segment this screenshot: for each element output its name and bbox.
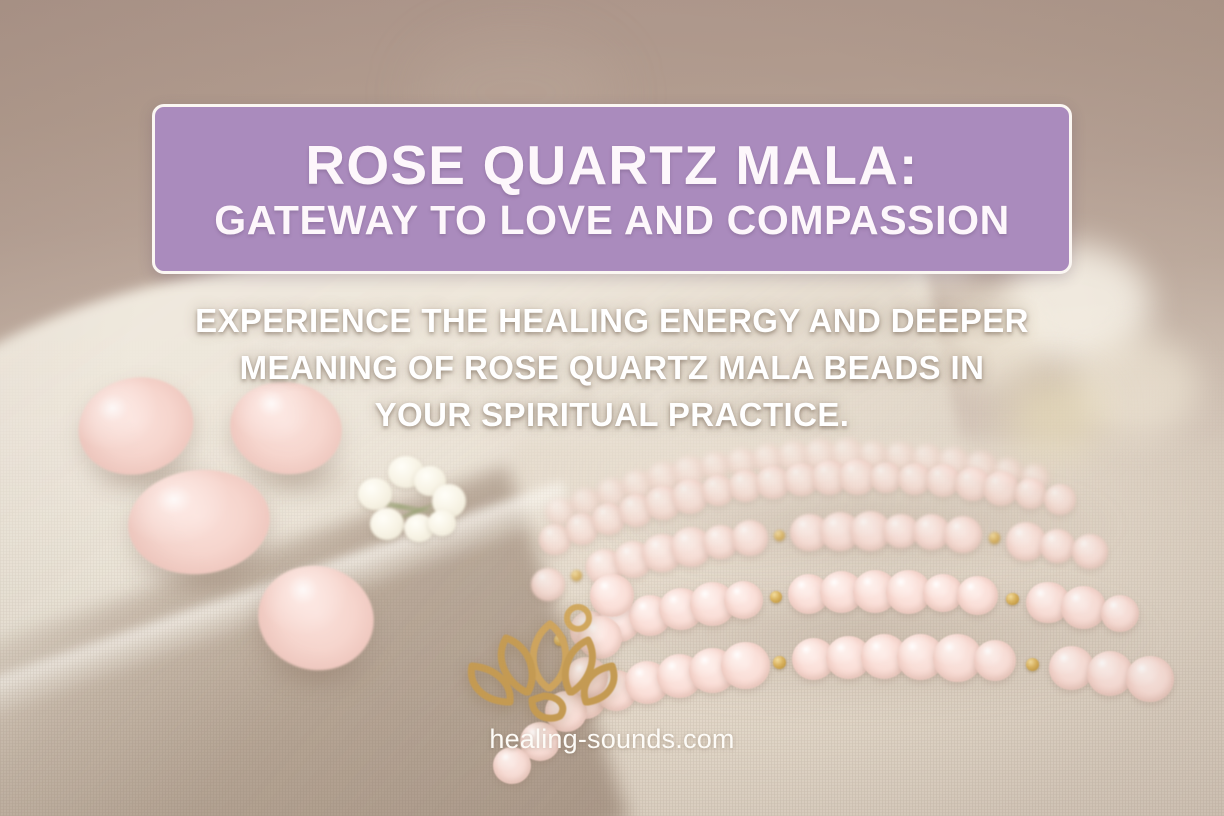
rose-quartz-bead [974,640,1016,681]
flower-petal [358,478,392,510]
rose-quartz-bead [721,642,769,689]
banner-image: ROSE QUARTZ MALA: GATEWAY TO LOVE AND CO… [0,0,1224,816]
rose-quartz-bead [1015,478,1046,508]
gold-spacer-bead [773,656,786,669]
rose-quartz-bead [1061,586,1106,629]
rose-quartz-bead [732,520,768,555]
rose-quartz-bead [724,581,763,619]
rose-quartz-bead [1040,529,1075,563]
title-line-2: GATEWAY TO LOVE AND COMPASSION [214,199,1010,242]
rose-quartz-bead [957,576,998,616]
title-banner: ROSE QUARTZ MALA: GATEWAY TO LOVE AND CO… [152,104,1072,274]
rose-quartz-bead [1101,595,1140,632]
rose-quartz-bead [1126,656,1174,702]
flower-petal [428,510,456,536]
title-line-1: ROSE QUARTZ MALA: [305,136,918,194]
gold-spacer-bead [1026,658,1039,671]
gold-spacer-bead [1006,593,1019,606]
rose-quartz-bead [944,516,982,553]
rose-quartz-bead [983,471,1019,506]
rose-quartz-bead [1072,534,1108,569]
watermark-url: healing-sounds.com [0,724,1224,755]
gold-spacer-bead [770,591,782,603]
babys-breath-flowers [344,452,474,550]
gold-spacer-bead [571,570,582,581]
gold-lotus-pendant [462,596,622,724]
gold-spacer-bead [989,532,1001,544]
rose-quartz-bead [1044,484,1076,515]
flower-petal [370,508,404,540]
